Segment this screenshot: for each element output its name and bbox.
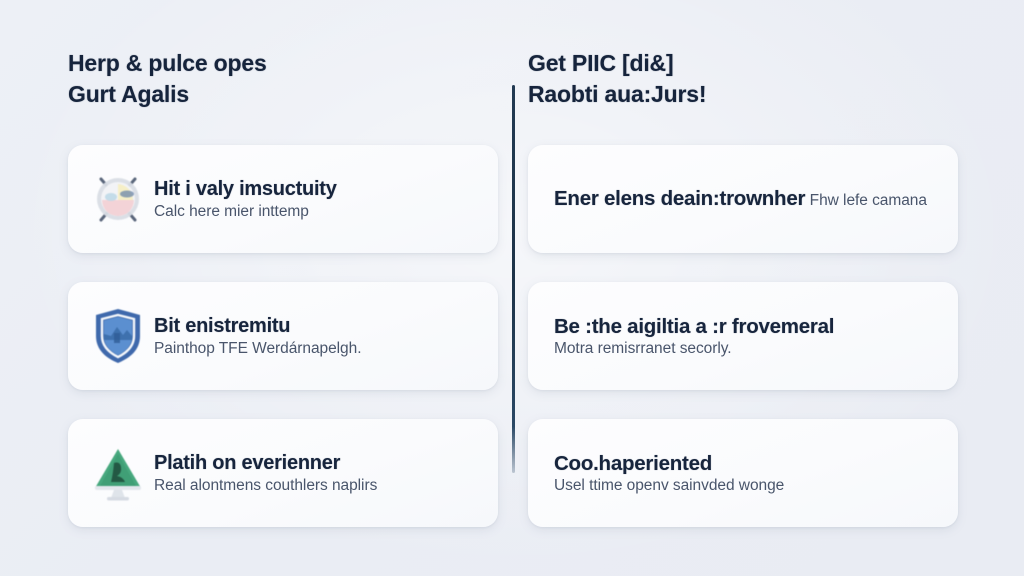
right-heading-line1: Get PIIC [di&] [528, 50, 673, 76]
list-item-text: Hit i valy imsuctuity Calc here mier int… [154, 177, 480, 221]
list-item[interactable]: Be :the aigiltia a :r frovemeral Motra r… [528, 282, 958, 390]
list-item-title: Platih on everienner [154, 452, 340, 474]
list-item-subtitle: Usel ttime openv sainvded wonge [554, 477, 784, 494]
left-heading-line2: Gurt Agalis [68, 79, 267, 110]
list-item-title: Ener elens deain:trownher [554, 187, 805, 210]
list-item-text: Coo.haperiented Usel ttime openv sainvde… [554, 451, 936, 496]
right-heading: Get PIIC [di&] Raobti aua:Jurs! [528, 48, 706, 111]
list-item-text: Be :the aigiltia a :r frovemeral Motra r… [554, 314, 936, 359]
left-card-list: Hit i valy imsuctuity Calc here mier int… [68, 145, 498, 556]
list-item[interactable]: Bit enistremitu Painthop TFE Werdárnapel… [68, 282, 498, 390]
right-card-list: Ener elens deain:trownher Fhw lefe caman… [528, 145, 958, 556]
list-item-subtitle: Painthop TFE Werdárnapelgh. [154, 340, 361, 357]
list-item-subtitle: Motra remisrranet secorly. [554, 340, 732, 357]
shield-icon [82, 297, 154, 375]
left-heading: Herp & pulce opes Gurt Agalis [68, 48, 267, 111]
list-item-title: Be :the aigiltia a :r frovemeral [554, 315, 834, 338]
page-root: Herp & pulce opes Gurt Agalis [0, 0, 1024, 576]
list-item[interactable]: Coo.haperiented Usel ttime openv sainvde… [528, 419, 958, 527]
column-divider [512, 85, 515, 473]
list-item-subtitle: Calc here mier inttemp [154, 203, 309, 220]
pastel-circle-crossed-icon [82, 160, 154, 238]
list-item[interactable]: Ener elens deain:trownher Fhw lefe caman… [528, 145, 958, 253]
list-item-title: Bit enistremitu [154, 315, 290, 337]
list-item-text: Bit enistremitu Painthop TFE Werdárnapel… [154, 314, 480, 358]
list-item-text: Platih on everienner Real alontmens cout… [154, 451, 480, 495]
list-item-title: Hit i valy imsuctuity [154, 178, 337, 200]
list-item-subtitle: Real alontmens couthlers naplirs [154, 477, 377, 494]
list-item-subtitle: Fhw lefe camana [810, 192, 927, 209]
right-heading-line2: Raobti aua:Jurs! [528, 79, 706, 110]
left-heading-line1: Herp & pulce opes [68, 50, 267, 76]
green-triangle-monitor-icon [82, 434, 154, 512]
list-item-title: Coo.haperiented [554, 452, 712, 475]
list-item-text: Ener elens deain:trownher Fhw lefe caman… [554, 186, 936, 212]
list-item[interactable]: Platih on everienner Real alontmens cout… [68, 419, 498, 527]
list-item[interactable]: Hit i valy imsuctuity Calc here mier int… [68, 145, 498, 253]
